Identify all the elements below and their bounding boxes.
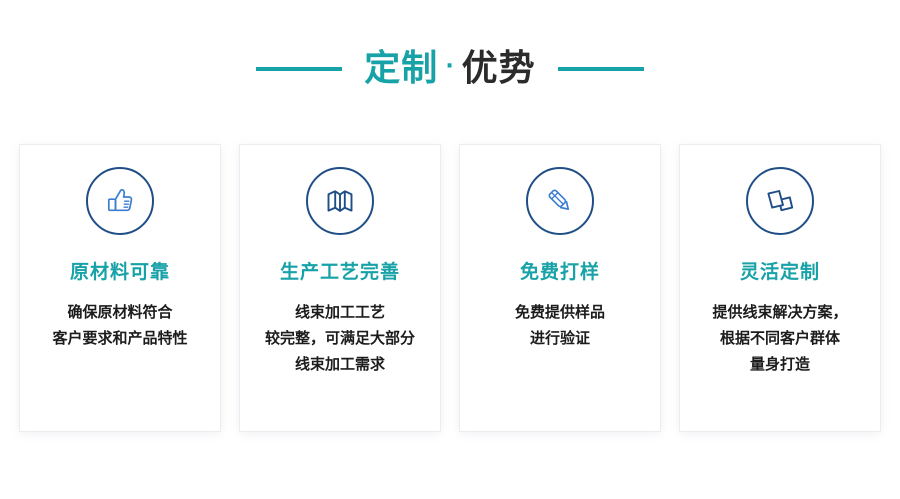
card-title: 生产工艺完善 — [280, 263, 400, 282]
page-title: 定制 · 优势 — [364, 51, 535, 87]
card-title: 原材料可靠 — [70, 263, 170, 282]
card-description: 免费提供样品 进行验证 — [505, 299, 615, 351]
feature-card[interactable]: 免费打样 免费提供样品 进行验证 — [460, 145, 660, 431]
heading-rule-right — [558, 67, 644, 71]
page-title-dark: 优势 — [462, 51, 536, 87]
folded-map-icon — [322, 183, 358, 219]
icon-circle — [746, 167, 814, 235]
page-title-accent: 定制 — [364, 51, 438, 87]
card-description: 确保原材料符合 客户要求和产品特性 — [42, 299, 197, 351]
feature-card[interactable]: 灵活定制 提供线束解决方案， 根据不同客户群体 量身打造 — [680, 145, 880, 431]
card-title: 灵活定制 — [740, 263, 820, 282]
heading-rule-left — [256, 67, 342, 71]
icon-circle — [306, 167, 374, 235]
stacked-cards-icon — [762, 183, 798, 219]
card-title: 免费打样 — [520, 263, 600, 282]
card-description: 提供线束解决方案， 根据不同客户群体 量身打造 — [702, 299, 857, 377]
icon-circle — [86, 167, 154, 235]
feature-card[interactable]: 原材料可靠 确保原材料符合 客户要求和产品特性 — [20, 145, 220, 431]
section-heading: 定制 · 优势 — [0, 0, 900, 110]
thumbs-up-icon — [102, 183, 138, 219]
icon-circle — [526, 167, 594, 235]
feature-card[interactable]: 生产工艺完善 线束加工工艺 较完整，可满足大部分 线束加工需求 — [240, 145, 440, 431]
pencil-icon — [542, 183, 578, 219]
feature-card-list: 原材料可靠 确保原材料符合 客户要求和产品特性 生产工艺完善 线束加工工艺 较完… — [20, 145, 880, 431]
card-description: 线束加工工艺 较完整，可满足大部分 线束加工需求 — [255, 299, 425, 377]
page-title-separator-dot: · — [445, 56, 454, 78]
